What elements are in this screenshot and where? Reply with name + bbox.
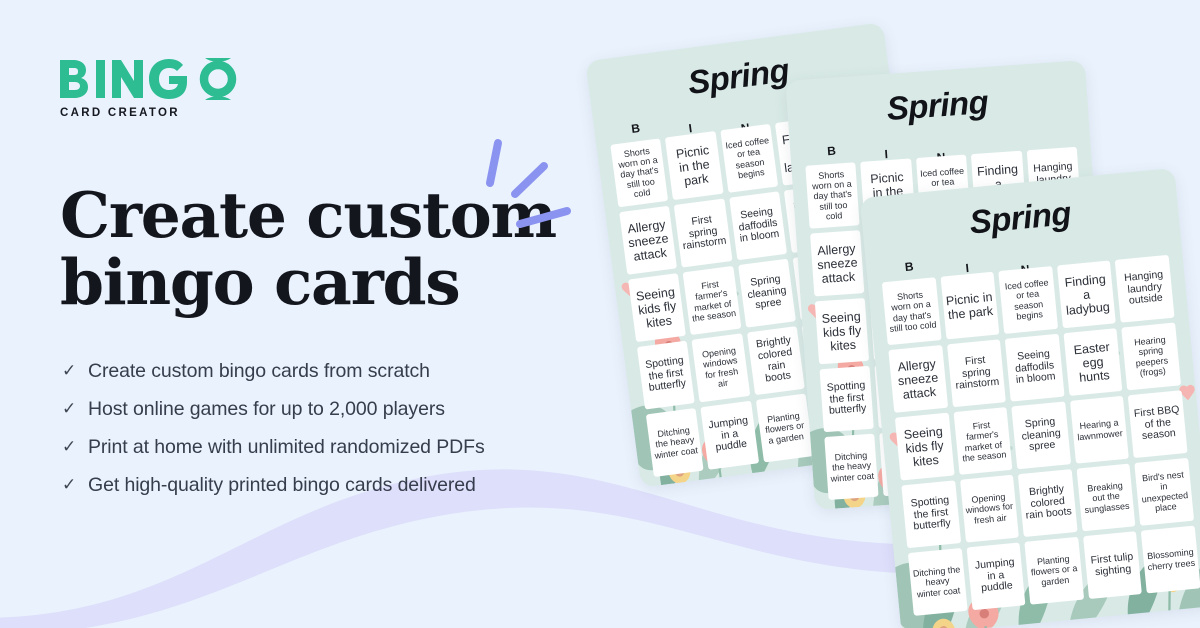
bingo-cell[interactable]: Picnic in the park [940, 272, 999, 340]
bingo-cell[interactable]: Ditching the heavy winter coat [824, 434, 879, 500]
bingo-cell[interactable]: Allergy sneeze attack [810, 230, 865, 296]
bingo-card-front[interactable]: SpringBINGOShorts worn on a day that's s… [860, 168, 1200, 628]
bingo-cell[interactable]: Brightly colored rain boots [747, 326, 805, 395]
bingo-card-title: Spring [786, 76, 1088, 135]
bingo-cell[interactable]: Shorts worn on a day that's still too co… [610, 138, 668, 207]
bingo-cell[interactable]: Finding a ladybug [1057, 260, 1116, 328]
bingo-column-letter-b: B [804, 142, 859, 160]
bingo-cell[interactable]: Seeing daffodils in bloom [1005, 334, 1064, 402]
bingo-cell[interactable]: Breaking out the sunglasses [1076, 463, 1135, 531]
bingo-cell[interactable]: Planting flowers or a garden [756, 393, 814, 462]
bingo-cell[interactable]: Ditching the heavy winter coat [908, 548, 967, 616]
bingo-cell[interactable]: First farmer's market of the season [683, 266, 741, 335]
bingo-cell[interactable]: Hearing a lawnmower [1070, 396, 1129, 464]
bingo-cell[interactable]: First farmer's market of the season [953, 407, 1012, 475]
bingo-cell[interactable]: Shorts worn on a day that's still too co… [805, 162, 860, 228]
bingo-cell[interactable]: Allergy sneeze attack [888, 345, 947, 413]
bingo-cell[interactable]: Spotting the first butterfly [820, 366, 875, 432]
bingo-cell[interactable]: Spring cleaning spree [1012, 401, 1071, 469]
bingo-cell[interactable]: Planting flowers or a garden [1025, 537, 1084, 605]
bingo-cell[interactable]: Picnic in the park [665, 131, 723, 200]
bingo-cell[interactable]: First tulip sighting [1083, 531, 1142, 599]
bingo-cell[interactable]: Opening windows for fresh air [692, 333, 750, 402]
bingo-cell[interactable]: Iced coffee or tea season begins [998, 266, 1057, 334]
bingo-cell[interactable]: Seeing daffodils in bloom [729, 191, 787, 260]
bingo-cell[interactable]: Seeing kids fly kites [815, 298, 870, 364]
bingo-column-letter-b: B [608, 118, 664, 139]
bingo-cell[interactable]: Bird's nest in unexpected place [1135, 458, 1194, 526]
bingo-grid: Shorts worn on a day that's still too co… [882, 255, 1200, 616]
bingo-cell[interactable]: Jumping in a puddle [701, 401, 759, 470]
bingo-card-stack: SpringBINGOShorts worn on a day that's s… [0, 0, 1200, 628]
bingo-cell[interactable]: Brightly colored rain boots [1018, 469, 1077, 537]
bingo-cell[interactable]: Iced coffee or tea season begins [720, 124, 778, 193]
bingo-column-letter-b: B [880, 257, 939, 276]
bingo-cell[interactable]: Easter egg hunts [1063, 328, 1122, 396]
bingo-cell[interactable]: Ditching the heavy winter coat [646, 408, 704, 477]
bingo-cell[interactable]: Shorts worn on a day that's still too co… [882, 277, 941, 345]
bingo-cell[interactable]: Spotting the first butterfly [637, 341, 695, 410]
bingo-cell[interactable]: Jumping in a puddle [966, 542, 1025, 610]
bingo-cell[interactable]: First BBQ of the season [1128, 390, 1187, 458]
bingo-cell[interactable]: Opening windows for fresh air [960, 475, 1019, 543]
bingo-cell[interactable]: First spring rainstorm [674, 198, 732, 267]
bingo-cell[interactable]: Hearing spring peepers (frogs) [1122, 323, 1181, 391]
bingo-cell[interactable]: Seeing kids fly kites [895, 413, 954, 481]
bingo-cell[interactable]: Spotting the first butterfly [901, 480, 960, 548]
bingo-cell[interactable]: Hanging laundry outside [1115, 255, 1174, 323]
bingo-cell[interactable]: Spring cleaning spree [738, 259, 796, 328]
bingo-cell[interactable]: First spring rainstorm [947, 339, 1006, 407]
bingo-cell[interactable]: Seeing kids fly kites [628, 273, 686, 342]
bingo-cell[interactable]: Allergy sneeze attack [619, 206, 677, 275]
bingo-cell[interactable]: Blossoming cherry trees [1141, 526, 1200, 594]
